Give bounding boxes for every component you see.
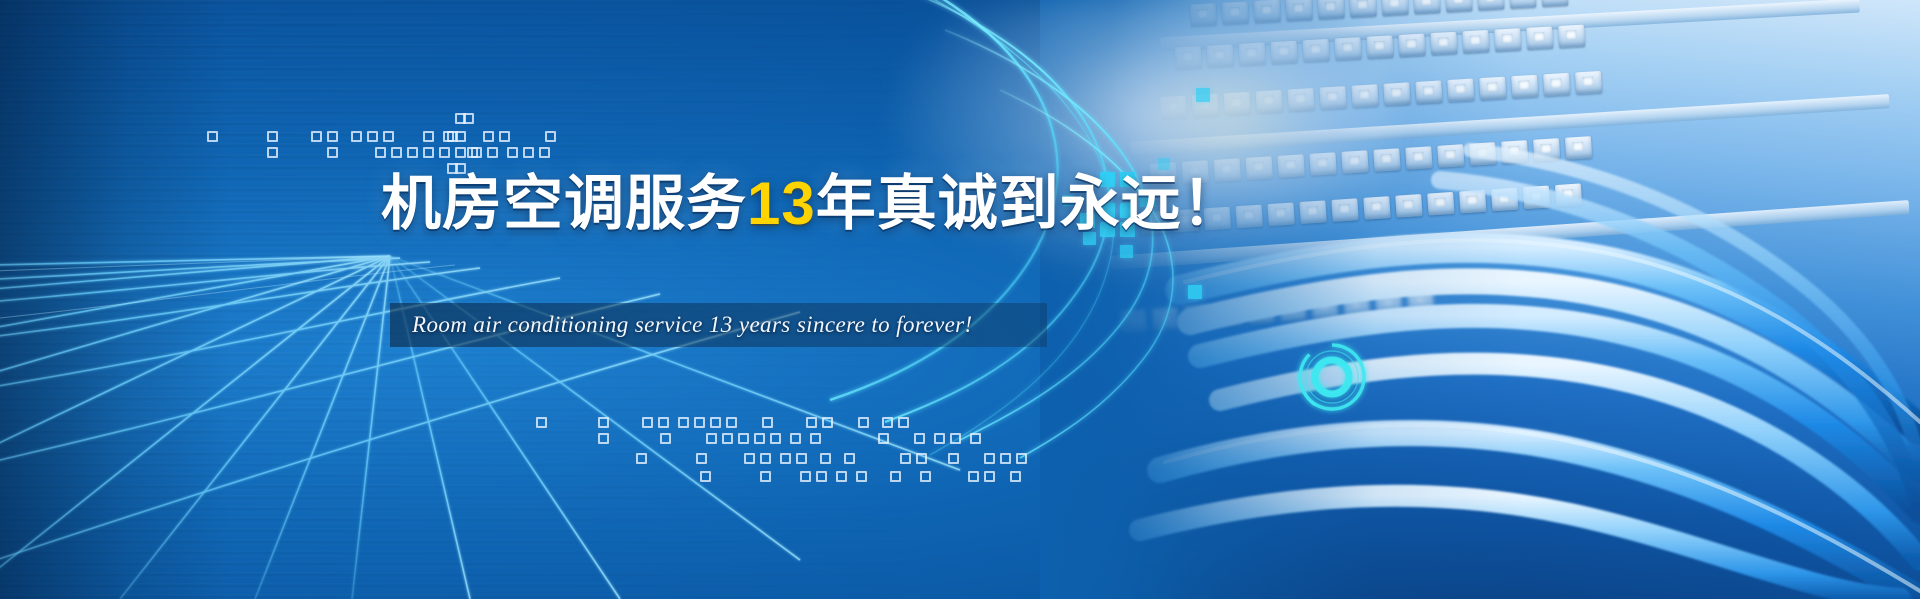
- headline-part-1: 机房空调服务: [381, 170, 747, 237]
- page-title: 机房空调服务13年真诚到永远！: [381, 172, 1243, 236]
- headline-part-2: 年真诚到永远！: [816, 170, 1243, 237]
- hero-banner: 机房空调服务13年真诚到永远！ Room air conditioning se…: [0, 0, 1920, 599]
- headline-years-highlight: 13: [747, 170, 816, 237]
- subtitle-text: Room air conditioning service 13 years s…: [390, 312, 973, 338]
- subtitle-bar: Room air conditioning service 13 years s…: [390, 303, 1047, 347]
- tech-ring-icon: [1290, 335, 1374, 419]
